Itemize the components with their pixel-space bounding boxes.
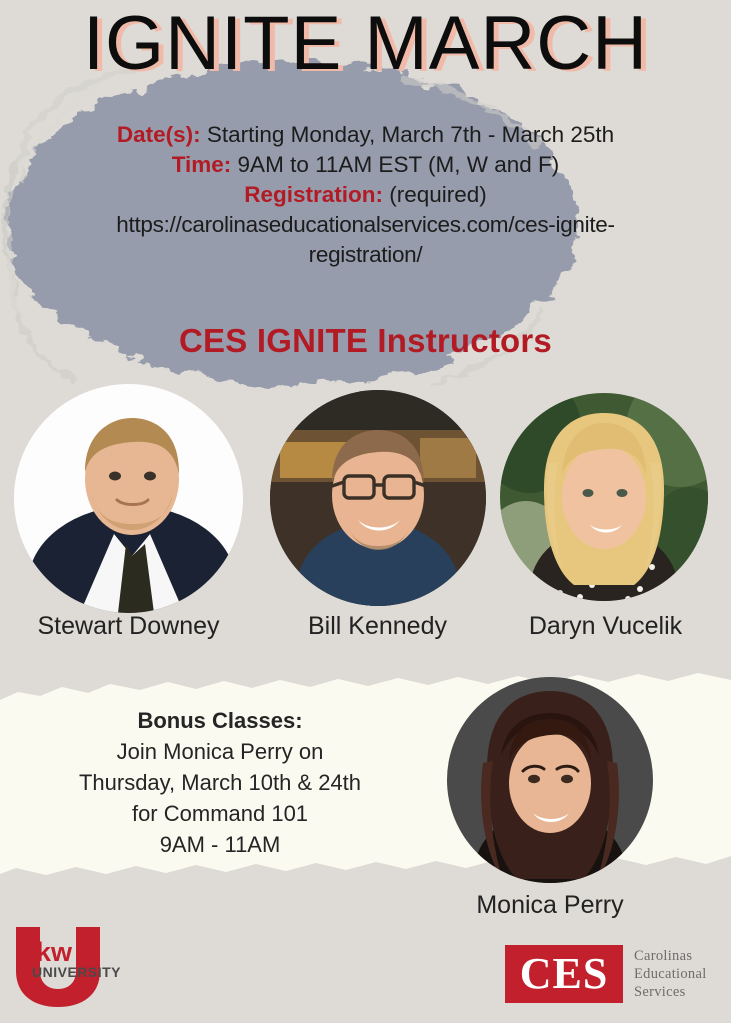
svg-text:kw: kw: [36, 937, 73, 967]
ces-logo: CES Carolinas Educational Services: [505, 943, 727, 1005]
bonus-line-2: Thursday, March 10th & 24th: [20, 767, 420, 798]
ces-logo-wordmark: Carolinas Educational Services: [634, 947, 707, 1001]
event-details: Date(s): Starting Monday, March 7th - Ma…: [0, 120, 731, 270]
registration-url-line-2[interactable]: registration/: [0, 240, 731, 270]
instructor-photo-monica-perry: [447, 677, 653, 883]
bonus-line-3: for Command 101: [20, 798, 420, 829]
instructor-photo-bill-kennedy: [270, 390, 486, 606]
instructor-photo-stewart-downey: [14, 384, 243, 613]
bonus-line-1: Join Monica Perry on: [20, 736, 420, 767]
registration-label: Registration:: [244, 182, 383, 207]
ces-word-educational: Educational: [634, 965, 707, 983]
ces-word-carolinas: Carolinas: [634, 947, 707, 965]
date-label: Date(s):: [117, 122, 201, 147]
bonus-title: Bonus Classes:: [20, 705, 420, 736]
bonus-line-4: 9AM - 11AM: [20, 829, 420, 860]
registration-value: (required): [383, 182, 487, 207]
date-value: Starting Monday, March 7th - March 25th: [201, 122, 615, 147]
ces-logo-mark: CES: [505, 945, 623, 1003]
kw-university-logo: kw UNIVERSITY: [8, 925, 128, 1010]
registration-url-line-1[interactable]: https://carolinaseducationalservices.com…: [0, 210, 731, 240]
time-value: 9AM to 11AM EST (M, W and F): [231, 152, 559, 177]
registration-row: Registration: (required): [0, 180, 731, 210]
instructor-name-bill-kennedy: Bill Kennedy: [255, 612, 500, 641]
page-title: IGNITE MARCH: [0, 6, 731, 82]
instructors-heading: CES IGNITE Instructors: [0, 322, 731, 360]
instructor-name-daryn-vucelik: Daryn Vucelik: [490, 612, 721, 641]
instructor-photo-daryn-vucelik: [500, 393, 708, 601]
instructor-name-stewart-downey: Stewart Downey: [0, 612, 257, 641]
svg-text:UNIVERSITY: UNIVERSITY: [32, 964, 121, 980]
poster-flyer: IGNITE MARCH Date(s): Starting Monday, M…: [0, 0, 731, 1023]
time-row: Time: 9AM to 11AM EST (M, W and F): [0, 150, 731, 180]
time-label: Time:: [172, 152, 232, 177]
bonus-classes-text: Bonus Classes: Join Monica Perry on Thur…: [20, 705, 420, 860]
ces-word-services: Services: [634, 983, 707, 1001]
date-row: Date(s): Starting Monday, March 7th - Ma…: [0, 120, 731, 150]
instructor-name-monica-perry: Monica Perry: [430, 891, 670, 920]
